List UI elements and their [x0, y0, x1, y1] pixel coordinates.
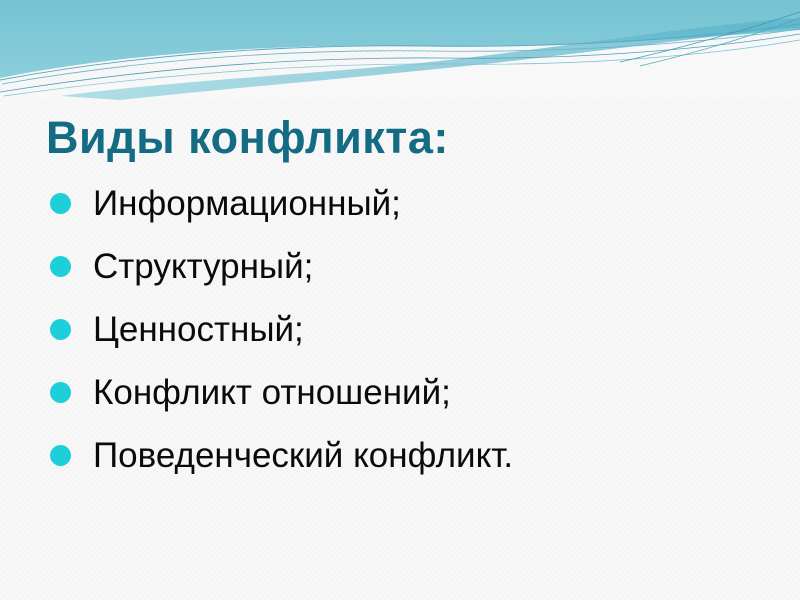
bullet-dot-icon [50, 256, 71, 277]
list-item-label: Структурный; [93, 249, 313, 284]
list-item-label: Поведенческий конфликт. [93, 438, 513, 473]
bullet-dot-icon [50, 193, 71, 214]
list-item: Конфликт отношений; [50, 361, 770, 424]
list-item: Ценностный; [50, 298, 770, 361]
bullet-dot-icon [50, 319, 71, 340]
list-item: Структурный; [50, 235, 770, 298]
slide-canvas: Виды конфликта: Информационный; Структур… [0, 0, 800, 600]
list-item: Информационный; [50, 172, 770, 235]
list-item-label: Конфликт отношений; [93, 375, 451, 410]
list-item: Поведенческий конфликт. [50, 424, 770, 487]
list-item-label: Ценностный; [93, 312, 304, 347]
header-wave-decoration [0, 0, 800, 100]
list-item-label: Информационный; [93, 186, 401, 221]
page-title: Виды конфликта: [46, 112, 449, 164]
bullet-dot-icon [50, 445, 71, 466]
bullet-dot-icon [50, 382, 71, 403]
bullet-list: Информационный; Структурный; Ценностный;… [50, 172, 770, 487]
